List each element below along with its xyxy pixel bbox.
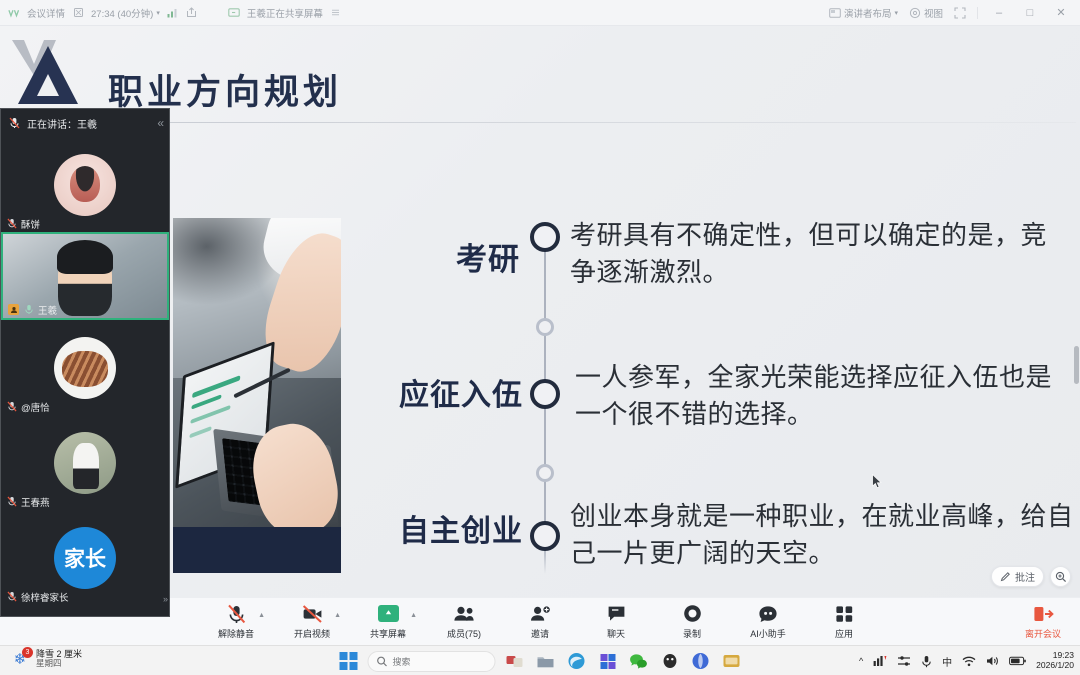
system-tray: ^ 中 19:23 2026/1/20	[859, 646, 1074, 675]
camera-off-icon	[302, 604, 323, 624]
mic-muted-icon	[6, 591, 17, 602]
notification-badge: 3	[22, 647, 33, 658]
speaking-label: 正在讲话：王羲	[27, 116, 97, 131]
qq-icon[interactable]	[658, 649, 682, 673]
record-icon	[683, 604, 702, 624]
meeting-top-bar: 会议详情 27:34 (40分钟) ▾ 王羲正在共享屏幕	[0, 0, 1080, 26]
toolbar-label: 聊天	[607, 627, 625, 640]
avatar: 家长	[54, 527, 116, 589]
clock-date: 2026/1/20	[1036, 661, 1074, 671]
toolbar-record-button[interactable]: 录制	[665, 604, 719, 640]
network-activity-icon[interactable]	[873, 655, 887, 667]
slide-row-label-1: 考研	[380, 234, 520, 279]
mic-muted-icon	[8, 117, 21, 130]
toolbar-label: 开启视频	[294, 627, 330, 640]
slide-row-label-2: 应征入伍	[328, 370, 523, 414]
leave-meeting-button[interactable]: 离开会议	[1016, 604, 1070, 640]
more-options-icon[interactable]	[330, 7, 342, 19]
toolbar-label: 共享屏幕	[370, 627, 406, 640]
participant-namebar: 徐梓睿家长 »	[1, 588, 169, 605]
collapse-chevrons-icon[interactable]: «	[157, 116, 162, 130]
maximize-icon[interactable]: □	[1020, 3, 1040, 23]
timer-icon	[72, 7, 84, 19]
taskview-icon[interactable]	[503, 649, 527, 673]
participant-tile[interactable]: 酥饼	[1, 137, 169, 232]
browser-icon[interactable]	[689, 649, 713, 673]
pen-icon	[1000, 571, 1011, 582]
toolbar-chat-button[interactable]: 聊天	[589, 604, 643, 640]
participants-icon	[453, 604, 475, 624]
invite-user-icon	[530, 604, 551, 624]
chevron-up-icon[interactable]: ▲	[258, 612, 265, 619]
fullscreen-icon[interactable]	[954, 7, 966, 19]
ai-assistant-icon	[758, 604, 778, 624]
close-icon[interactable]: ✕	[1051, 3, 1071, 23]
speaking-indicator: 正在讲话：王羲 «	[1, 109, 169, 137]
participant-tile[interactable]: 王春燕	[1, 415, 169, 510]
annotate-label: 批注	[1015, 569, 1035, 584]
toolbar-label: 应用	[835, 627, 853, 640]
resize-handle-icon[interactable]: »	[163, 594, 167, 604]
windows-start-icon[interactable]	[337, 649, 361, 673]
screen-share-icon	[228, 7, 240, 19]
participant-namebar: @唐恰	[1, 398, 169, 415]
mic-muted-icon	[6, 218, 17, 229]
screen-share-icon	[378, 605, 399, 622]
toolbar-label: 成员(75)	[447, 627, 481, 640]
toolbar-label: 邀请	[531, 627, 549, 640]
mic-muted-icon	[6, 401, 17, 412]
participant-name: 徐梓睿家长	[21, 590, 69, 604]
avatar	[54, 432, 116, 494]
signal-bars-icon[interactable]	[167, 7, 179, 19]
participant-namebar: 酥饼	[1, 215, 169, 232]
chevron-up-icon[interactable]: ▲	[334, 612, 341, 619]
toolbar-label: 录制	[683, 627, 701, 640]
taskbar-clock[interactable]: 19:23 2026/1/20	[1036, 651, 1074, 670]
store-icon[interactable]	[596, 649, 620, 673]
divider	[977, 7, 978, 19]
slide-photo	[173, 218, 341, 573]
mic-muted-icon	[227, 604, 246, 624]
show-hidden-icons-icon[interactable]: ^	[859, 656, 863, 666]
slide-scrollbar-thumb[interactable]	[1074, 346, 1079, 384]
tencent-meeting-window: 会议详情 27:34 (40分钟) ▾ 王羲正在共享屏幕	[0, 0, 1080, 645]
avatar	[54, 154, 116, 216]
timeline-node-2	[530, 379, 560, 409]
toolbar-share-button[interactable]: 共享屏幕 ▲	[361, 604, 415, 640]
slide-row-label-3: 自主创业	[328, 506, 523, 550]
minimize-icon[interactable]: –	[989, 3, 1009, 23]
participant-namebar: 王春燕	[1, 493, 169, 510]
slide-row-text-2: 一人参军，全家光荣能选择应征入伍也是一个很不错的选择。	[575, 360, 1075, 434]
taskbar-center-group: 搜索	[337, 646, 744, 675]
battery-icon[interactable]	[1009, 656, 1026, 666]
toolbar-label: AI小助手	[750, 627, 786, 640]
weather-subtitle: 星期四	[36, 659, 82, 669]
apps-grid-icon	[835, 604, 854, 624]
participants-sidebar[interactable]: 正在讲话：王羲 « 酥饼 王羲	[0, 108, 170, 617]
avatar-initials: 家长	[64, 543, 106, 573]
layout-icon	[829, 7, 841, 19]
folder-icon[interactable]	[534, 649, 558, 673]
toolbar-label: 解除静音	[218, 627, 254, 640]
timeline-node-minor-2	[536, 464, 554, 482]
participant-tile[interactable]: 家长 徐梓睿家长 »	[1, 510, 169, 605]
windows-taskbar: ❄ 3 降雪 2 厘米 星期四 搜索	[0, 645, 1080, 675]
participant-name: @唐恰	[21, 400, 50, 414]
chevron-down-icon: ▾	[156, 9, 160, 17]
wifi-icon[interactable]	[962, 656, 976, 667]
view-selector[interactable]: 视图	[909, 6, 943, 20]
slide-row-text-1: 考研具有不确定性，但可以确定的是，竞争逐渐激烈。	[570, 218, 1070, 292]
slide-row-text-3: 创业本身就是一种职业，在就业高峰，给自己一片更广阔的天空。	[570, 499, 1075, 573]
toolbar-apps-button[interactable]: 应用	[817, 604, 871, 640]
toolbar-invite-button[interactable]: 邀请	[513, 604, 567, 640]
zoom-in-icon[interactable]	[1050, 566, 1071, 587]
leave-meeting-icon	[1033, 604, 1054, 624]
toolbar-mute-button[interactable]: 解除静音 ▲	[209, 604, 263, 640]
participant-name: 酥饼	[21, 217, 40, 231]
edge-icon[interactable]	[565, 649, 589, 673]
taskbar-weather-widget[interactable]: ❄ 3 降雪 2 厘米 星期四	[10, 649, 82, 669]
avatar	[54, 337, 116, 399]
mouse-cursor	[872, 474, 883, 489]
toolbar-video-button[interactable]: 开启视频 ▲	[285, 604, 339, 640]
participant-name: 王春燕	[21, 495, 50, 509]
layout-selector[interactable]: 演讲者布局 ▾	[829, 6, 898, 20]
app-icon[interactable]	[720, 649, 744, 673]
mic-muted-icon	[6, 496, 17, 507]
chevron-down-icon: ▾	[894, 9, 898, 17]
toolbar-participants-button[interactable]: 成员(75)	[437, 604, 491, 640]
annotate-button[interactable]: 批注	[991, 566, 1044, 587]
toolbar-ai-assistant-button[interactable]: AI小助手	[741, 604, 795, 640]
ime-indicator[interactable]: 中	[942, 654, 952, 669]
chevron-up-icon[interactable]: ▲	[410, 612, 417, 619]
participant-tile-active[interactable]: 王羲	[1, 232, 169, 320]
participant-namebar: 王羲	[3, 301, 167, 318]
chat-icon	[607, 604, 626, 624]
annotation-toolbar: 批注	[991, 566, 1071, 587]
meeting-info-label[interactable]: 会议详情	[27, 6, 65, 20]
tencent-meeting-logo-icon	[8, 7, 20, 19]
participant-tile[interactable]: @唐恰	[1, 320, 169, 415]
timeline-node-1	[530, 222, 560, 252]
sharing-status-label: 王羲正在共享屏幕	[247, 6, 323, 20]
leave-meeting-label: 离开会议	[1025, 627, 1061, 640]
wechat-icon[interactable]	[627, 649, 651, 673]
popout-window-icon[interactable]	[186, 7, 198, 19]
search-placeholder: 搜索	[393, 655, 411, 668]
view-eye-icon	[909, 7, 921, 19]
meeting-timer[interactable]: 27:34 (40分钟) ▾	[91, 6, 160, 20]
search-input[interactable]: 搜索	[368, 651, 496, 672]
microphone-icon[interactable]	[921, 655, 932, 668]
search-icon	[377, 656, 388, 667]
snowflake-icon: ❄ 3	[10, 649, 30, 669]
host-badge-icon	[8, 304, 19, 315]
settings-sliders-icon[interactable]	[897, 655, 911, 667]
participant-name: 王羲	[38, 303, 57, 317]
volume-icon[interactable]	[986, 655, 999, 667]
mic-on-icon	[23, 304, 34, 315]
title-divider	[96, 122, 1076, 123]
timeline-node-3	[530, 521, 560, 551]
timeline-node-minor-1	[536, 318, 554, 336]
triangle-logo-icon	[8, 34, 86, 110]
